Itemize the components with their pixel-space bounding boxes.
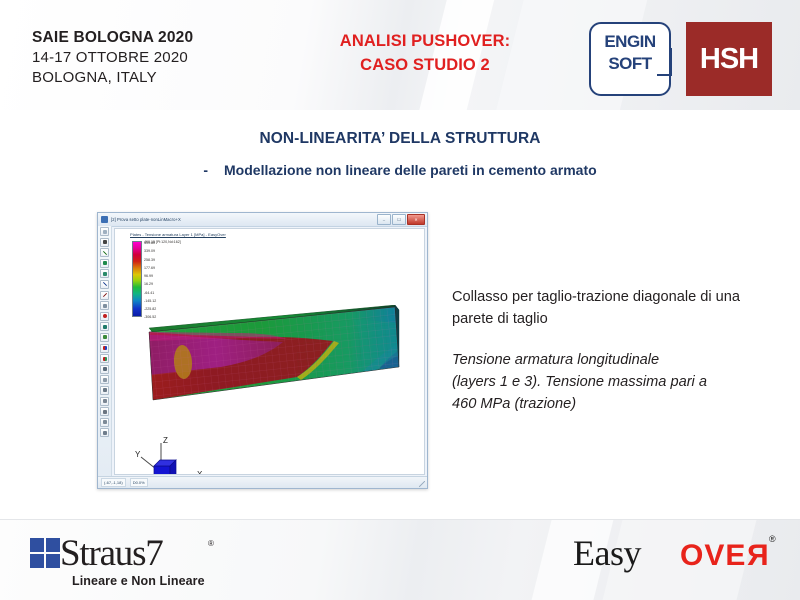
annotation-p2-line3: 460 MPa (trazione) [452, 394, 772, 416]
select-icon[interactable] [100, 428, 109, 437]
bullet-text: Modellazione non lineare delle pareti in… [224, 162, 597, 178]
svg-text:Z: Z [163, 436, 168, 445]
legend-value: 258.39 [144, 259, 156, 263]
easyover-logo: Easy OVER ® [573, 532, 783, 578]
annotation-p1-line1: Collasso per taglio-trazione diagonale d… [452, 287, 772, 309]
event-name: SAIE BOLOGNA 2020 [32, 28, 193, 48]
beam-icon[interactable] [100, 280, 109, 289]
annotation-text: Collasso per taglio-trazione diagonale d… [452, 287, 772, 415]
legend-value: -145.12 [144, 300, 156, 304]
event-info: SAIE BOLOGNA 2020 14-17 OTTOBRE 2020 BOL… [32, 28, 193, 88]
plot-header-label: Plates - Tensione armatura Layer 1 [MPa]… [130, 232, 226, 237]
event-dates: 14-17 OTTOBRE 2020 [32, 48, 193, 68]
svg-text:X: X [197, 470, 203, 475]
enginsoft-logo-corner [657, 48, 672, 76]
maximize-button[interactable]: ☐ [392, 214, 406, 225]
brick-icon[interactable] [100, 269, 109, 278]
node-icon[interactable] [100, 312, 109, 321]
legend-value: 177.69 [144, 267, 156, 271]
section-title: NON-LINEARITA’ DELLA STRUTTURA [0, 130, 800, 148]
hsh-logo-text: HSH [686, 22, 772, 96]
straus7-registered-mark: ® [208, 539, 214, 548]
axis-triad: Z X Y [135, 435, 211, 475]
result-icon[interactable] [100, 354, 109, 363]
line-icon[interactable] [100, 248, 109, 257]
easyover-over-prefix: OVE [680, 539, 746, 572]
link-icon[interactable] [100, 291, 109, 300]
mesh-icon[interactable] [100, 301, 109, 310]
status-coordinates: (-67,-1,18) [101, 478, 126, 487]
shear-wall-contour-plot [147, 305, 401, 409]
point-icon[interactable] [100, 238, 109, 247]
easyover-registered-mark: ® [769, 534, 776, 544]
annotation-paragraph-1: Collasso per taglio-trazione diagonale d… [452, 287, 772, 331]
table-icon[interactable] [100, 375, 109, 384]
straus7-app-window: [2] Prova setto plate-nonLinMacro+X – ☐ … [97, 212, 428, 489]
annotation-p1-line2: parete di taglio [452, 309, 772, 331]
contour-icon[interactable] [100, 344, 109, 353]
bullet-row: -Modellazione non lineare delle pareti i… [0, 162, 800, 178]
annotation-p2-line1: Tensione armatura longitudinale [452, 350, 772, 372]
annotation-p2-line2: (layers 1 e 3). Tensione massima pari a [452, 372, 772, 394]
bullet-dash: - [203, 162, 208, 178]
attach-icon[interactable] [100, 333, 109, 342]
close-button[interactable]: ✕ [407, 214, 425, 225]
deck-title-line2: CASO STUDIO 2 [290, 54, 560, 78]
straus7-tagline: Lineare e Non Lineare [72, 574, 205, 588]
slide: SAIE BOLOGNA 2020 14-17 OTTOBRE 2020 BOL… [0, 0, 800, 600]
resize-grip-icon[interactable] [419, 481, 425, 487]
window-controls: – ☐ ✕ [377, 214, 425, 225]
deck-title-line1: ANALISI PUSHOVER: [290, 30, 560, 54]
window-statusbar: (-67,-1,18) D0.0% [98, 476, 427, 488]
plate-icon[interactable] [100, 259, 109, 268]
easyover-over-flipped-r: R [746, 539, 769, 573]
legend-value: 419.80 [144, 242, 156, 246]
deck-title: ANALISI PUSHOVER: CASO STUDIO 2 [290, 30, 560, 78]
contour-colorbar [132, 241, 142, 317]
window-titlebar[interactable]: [2] Prova setto plate-nonLinMacro+X – ☐ … [98, 213, 427, 227]
left-toolbar [98, 226, 112, 477]
event-location: BOLOGNA, ITALY [32, 68, 193, 88]
straus7-grid-icon [30, 538, 64, 572]
easyover-over-text: OVER [680, 539, 769, 573]
grid-icon[interactable] [100, 227, 109, 236]
svg-text:Y: Y [135, 450, 141, 459]
enginsoft-logo: ENGIN SOFT [589, 22, 671, 96]
status-zoom: D0.0% [130, 478, 148, 487]
hsh-logo: HSH [686, 22, 772, 96]
straus7-wordmark: Straus7 [60, 532, 163, 575]
window-title: [2] Prova setto plate-nonLinMacro+X [111, 217, 181, 222]
legend-value: 16.29 [144, 283, 156, 287]
minimize-button[interactable]: – [377, 214, 391, 225]
window-body: Plates - Tensione armatura Layer 1 [MPa]… [98, 226, 427, 477]
arrow-icon[interactable] [100, 365, 109, 374]
straus7-logo: Straus7 ® Lineare e Non Lineare [30, 535, 245, 589]
application-icon [101, 216, 108, 223]
view-icon[interactable] [100, 386, 109, 395]
label-icon[interactable] [100, 407, 109, 416]
legend-value: 96.99 [144, 275, 156, 279]
legend-value: 339.09 [144, 250, 156, 254]
legend-value: -64.41 [144, 292, 156, 296]
props-icon[interactable] [100, 418, 109, 427]
model-canvas[interactable]: Plates - Tensione armatura Layer 1 [MPa]… [114, 228, 425, 475]
solid-icon[interactable] [100, 322, 109, 331]
render-icon[interactable] [100, 397, 109, 406]
easyover-easy-text: Easy [573, 532, 641, 574]
annotation-paragraph-2: Tensione armatura longitudinale (layers … [452, 350, 772, 416]
